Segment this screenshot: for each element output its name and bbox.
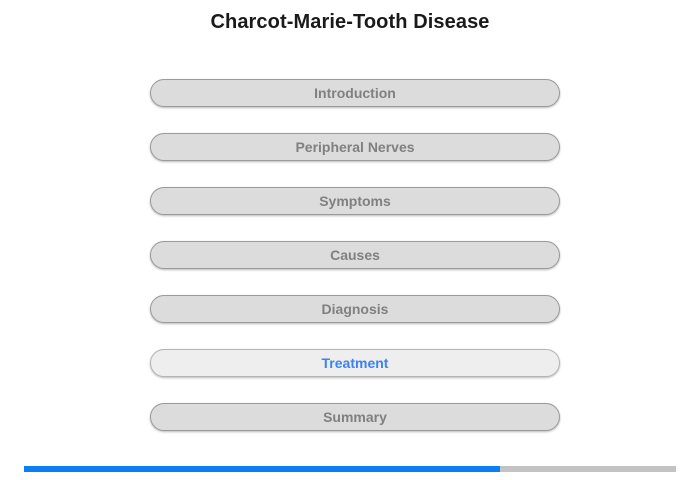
menu-item-introduction[interactable]: Introduction bbox=[150, 79, 560, 107]
menu-item-summary[interactable]: Summary bbox=[150, 403, 560, 431]
menu-item-label: Introduction bbox=[314, 86, 396, 100]
menu-item-diagnosis[interactable]: Diagnosis bbox=[150, 295, 560, 323]
progress-bar-track[interactable] bbox=[24, 466, 676, 472]
page-title: Charcot-Marie-Tooth Disease bbox=[0, 11, 700, 34]
progress-bar-fill bbox=[24, 466, 500, 472]
menu-item-label: Causes bbox=[330, 248, 380, 262]
menu-item-treatment[interactable]: Treatment bbox=[150, 349, 560, 377]
menu-list: IntroductionPeripheral NervesSymptomsCau… bbox=[150, 79, 560, 457]
menu-item-label: Treatment bbox=[322, 356, 389, 370]
menu-item-causes[interactable]: Causes bbox=[150, 241, 560, 269]
menu-item-label: Peripheral Nerves bbox=[295, 140, 414, 154]
menu-item-label: Diagnosis bbox=[322, 302, 389, 316]
menu-item-label: Summary bbox=[323, 410, 387, 424]
menu-item-symptoms[interactable]: Symptoms bbox=[150, 187, 560, 215]
menu-item-peripheral-nerves[interactable]: Peripheral Nerves bbox=[150, 133, 560, 161]
menu-item-label: Symptoms bbox=[319, 194, 391, 208]
